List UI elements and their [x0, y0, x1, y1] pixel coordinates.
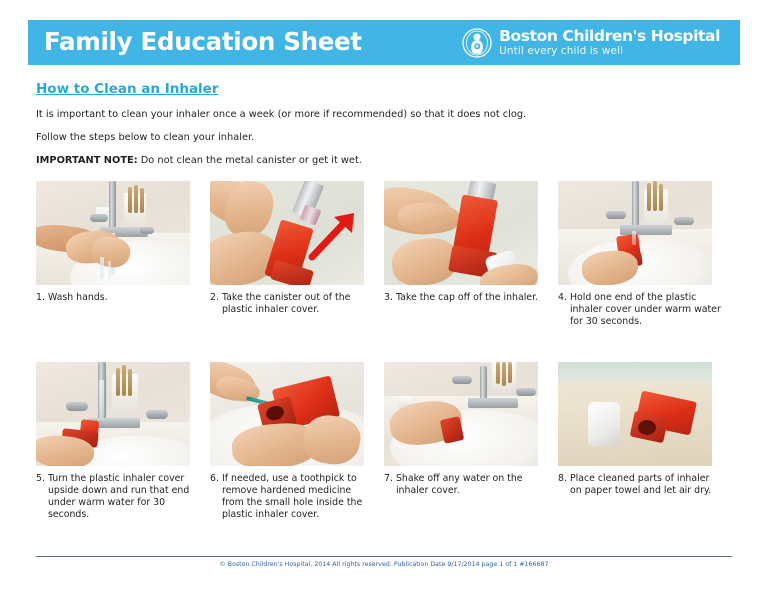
step-photo-remove-cap	[384, 181, 538, 285]
step-text: Turn the plastic inhaler cover upside do…	[48, 473, 200, 520]
step-caption: 4. Hold one end of the plastic inhaler c…	[558, 292, 722, 328]
step-item: 4. Hold one end of the plastic inhaler c…	[558, 181, 732, 362]
important-note-label: IMPORTANT NOTE:	[36, 155, 138, 166]
step-text: Take the canister out of the plastic inh…	[222, 292, 374, 316]
step-caption: 2. Take the canister out of the plastic …	[210, 292, 374, 316]
page-header: Family Education Sheet Boston Children's…	[28, 20, 740, 65]
step-photo-wash-hands	[36, 181, 190, 285]
important-note: IMPORTANT NOTE: Do not clean the metal c…	[36, 155, 736, 167]
mother-and-child-emblem-icon	[462, 28, 492, 58]
step-item: 3. Take the cap off of the inhaler.	[384, 181, 558, 362]
step-number: 7.	[384, 473, 393, 497]
step-photo-air-dry-on-towel	[558, 362, 712, 466]
brand-tagline: Until every child is well	[499, 46, 720, 57]
footer-copyright: © Boston Children's Hospital, 2014 All r…	[36, 561, 732, 568]
hospital-branding: Boston Children's Hospital Until every c…	[462, 28, 720, 58]
step-text: Hold one end of the plastic inhaler cove…	[570, 292, 722, 328]
step-number: 4.	[558, 292, 567, 328]
step-text: If needed, use a toothpick to remove har…	[222, 473, 374, 520]
step-caption: 1. Wash hands.	[36, 292, 200, 304]
brand-name: Boston Children's Hospital	[499, 29, 720, 45]
step-caption: 6. If needed, use a toothpick to remove …	[210, 473, 374, 520]
important-note-text: Do not clean the metal canister or get i…	[141, 155, 362, 166]
step-text: Take the cap off of the inhaler.	[396, 292, 548, 304]
step-item: 8. Place cleaned parts of inhaler on pap…	[558, 362, 732, 543]
step-photo-remove-canister	[210, 181, 364, 285]
step-text: Wash hands.	[48, 292, 200, 304]
intro-section: How to Clean an Inhaler It is important …	[36, 78, 736, 168]
step-item: 2. Take the canister out of the plastic …	[210, 181, 384, 362]
step-photo-toothpick-clean	[210, 362, 364, 466]
document-page: Family Education Sheet Boston Children's…	[0, 0, 768, 593]
step-text: Place cleaned parts of inhaler on paper …	[570, 473, 722, 497]
step-caption: 5. Turn the plastic inhaler cover upside…	[36, 473, 200, 520]
step-number: 8.	[558, 473, 567, 497]
step-caption: 3. Take the cap off of the inhaler.	[384, 292, 548, 304]
step-text: Shake off any water on the inhaler cover…	[396, 473, 548, 497]
step-photo-shake-off-water	[384, 362, 538, 466]
step-item: 1. Wash hands.	[36, 181, 210, 362]
step-number: 6.	[210, 473, 219, 520]
step-number: 1.	[36, 292, 45, 304]
step-item: 6. If needed, use a toothpick to remove …	[210, 362, 384, 543]
step-number: 5.	[36, 473, 45, 520]
step-caption: 8. Place cleaned parts of inhaler on pap…	[558, 473, 722, 497]
intro-paragraph-2: Follow the steps below to clean your inh…	[36, 132, 736, 144]
step-item: 7. Shake off any water on the inhaler co…	[384, 362, 558, 543]
step-caption: 7. Shake off any water on the inhaler co…	[384, 473, 548, 497]
step-photo-rinse-one-end	[558, 181, 712, 285]
brand-wordmark: Boston Children's Hospital Until every c…	[499, 29, 720, 57]
page-title: Family Education Sheet	[44, 30, 362, 55]
step-item: 5. Turn the plastic inhaler cover upside…	[36, 362, 210, 543]
step-number: 2.	[210, 292, 219, 316]
step-photo-rinse-other-end	[36, 362, 190, 466]
footer-divider	[36, 556, 732, 557]
step-number: 3.	[384, 292, 393, 304]
step-grid: 1. Wash hands.	[36, 181, 736, 543]
document-title-link[interactable]: How to Clean an Inhaler	[36, 81, 219, 97]
intro-paragraph-1: It is important to clean your inhaler on…	[36, 109, 736, 121]
